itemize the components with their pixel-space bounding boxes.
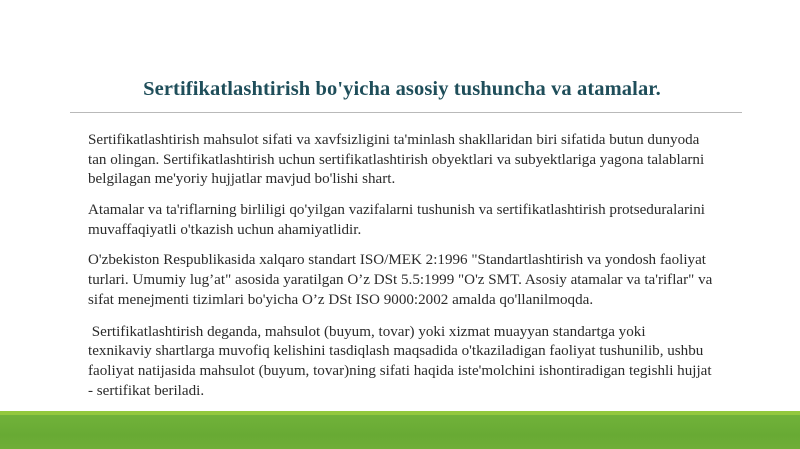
- footer-bar: [0, 415, 800, 449]
- slide-body: Sertifikatlashtirish mahsulot sifati va …: [88, 131, 720, 401]
- slide-canvas: Sertifikatlashtirish bo'yicha asosiy tus…: [0, 0, 800, 449]
- body-paragraph: O'zbekiston Respublikasida xalqaro stand…: [88, 251, 720, 310]
- body-paragraph: Atamalar va ta'riflarning birliligi qo'y…: [88, 201, 720, 240]
- body-paragraph: Sertifikatlashtirish deganda, mahsulot (…: [88, 323, 720, 402]
- body-paragraph: Sertifikatlashtirish mahsulot sifati va …: [88, 131, 720, 190]
- page-title: Sertifikatlashtirish bo'yicha asosiy tus…: [60, 78, 744, 102]
- title-divider: [70, 112, 742, 113]
- footer-bar-fill: [0, 415, 800, 449]
